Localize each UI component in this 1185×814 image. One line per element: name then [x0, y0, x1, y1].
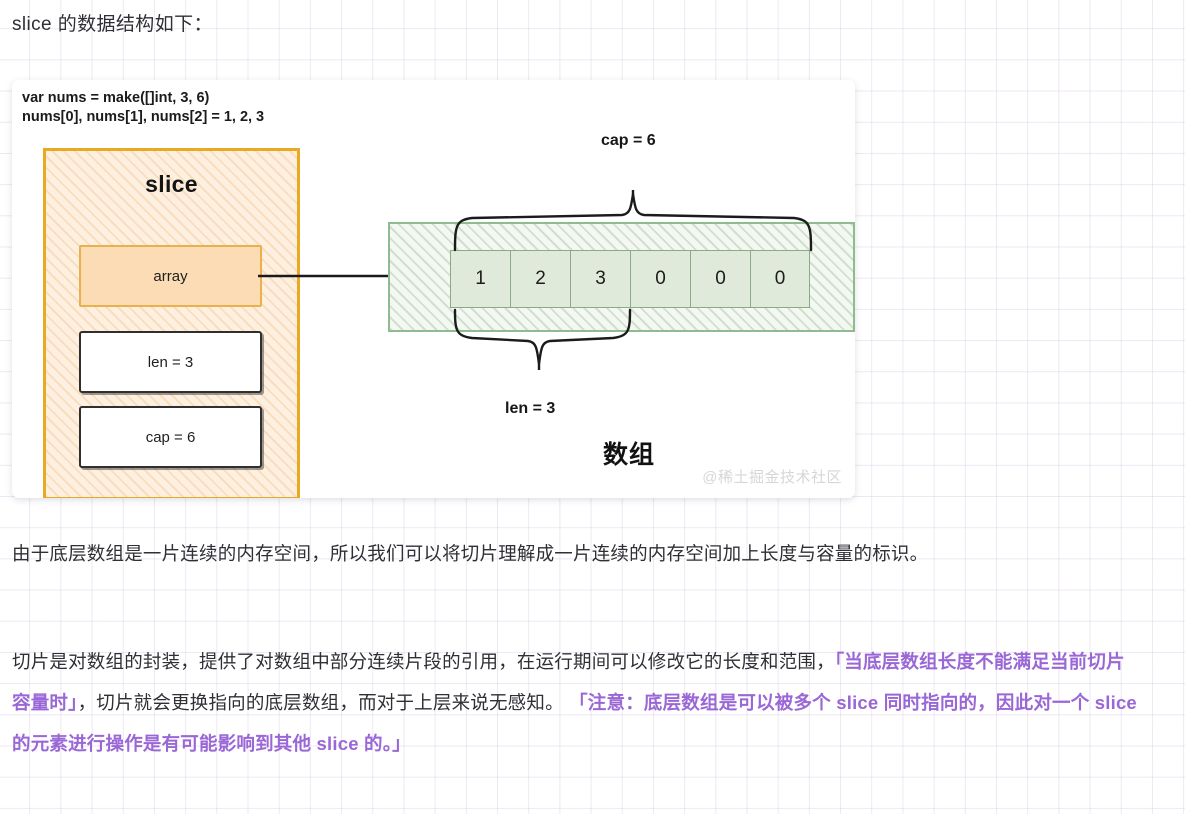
array-cell: 1	[450, 250, 510, 308]
cap-brace	[450, 190, 816, 252]
paragraph-two-segment-a: 切片是对数组的封装，提供了对数组中部分连续片段的引用，在运行期间可以修改它的长度…	[12, 651, 835, 672]
slice-cap-field: cap = 6	[79, 406, 262, 468]
slice-structure-figure: var nums = make([]int, 3, 6) nums[0], nu…	[12, 80, 855, 498]
paragraph-two-segment-b: ，切片就会更换指向的底层数组，而对于上层来说无感知。	[78, 692, 570, 713]
array-cell: 2	[510, 250, 570, 308]
watermark: @稀土掘金技术社区	[702, 466, 842, 487]
slice-array-field-label: array	[153, 268, 187, 285]
slice-struct-title: slice	[46, 171, 297, 198]
array-cell: 0	[630, 250, 690, 308]
page-intro-text: slice 的数据结构如下：	[12, 10, 213, 40]
paragraph-one: 由于底层数组是一片连续的内存空间，所以我们可以将切片理解成一片连续的内存空间加上…	[12, 533, 1137, 574]
cap-annotation-label: cap = 6	[601, 132, 656, 150]
len-annotation-label: len = 3	[505, 400, 555, 418]
slice-cap-field-label: cap = 6	[146, 429, 196, 446]
slice-len-field: len = 3	[79, 331, 262, 393]
paragraph-two: 切片是对数组的封装，提供了对数组中部分连续片段的引用，在运行期间可以修改它的长度…	[12, 641, 1137, 764]
slice-len-field-label: len = 3	[148, 354, 193, 371]
array-cell: 0	[690, 250, 750, 308]
array-caption: 数组	[603, 435, 655, 471]
array-cell: 3	[570, 250, 630, 308]
code-snippet: var nums = make([]int, 3, 6) nums[0], nu…	[22, 89, 264, 126]
slice-array-field: array	[79, 245, 262, 307]
len-brace	[450, 308, 640, 370]
slice-struct-box: slice array len = 3 cap = 6	[43, 148, 300, 498]
array-cell: 0	[750, 250, 810, 308]
array-cells: 1 2 3 0 0 0	[450, 250, 810, 308]
